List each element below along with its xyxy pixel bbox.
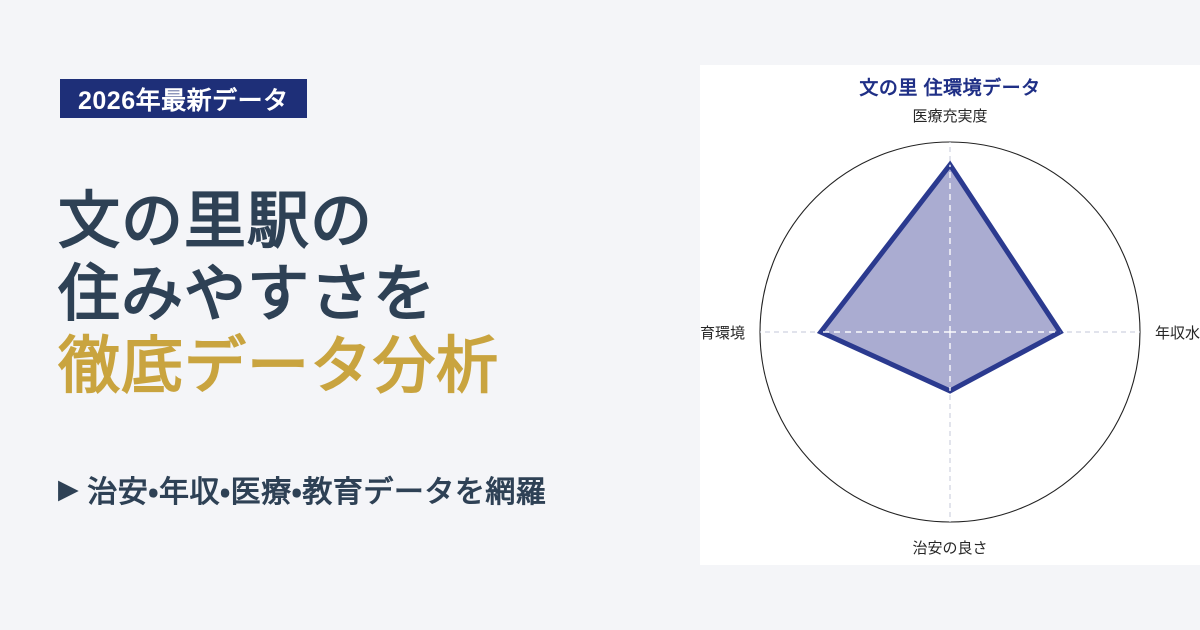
subtitle: ▶ 治安・年収・医療・教育データを網羅 <box>58 467 546 511</box>
badge-label: 2026年最新データ <box>78 81 289 117</box>
axis-label-right: 年収水準 <box>1155 325 1200 342</box>
headline-line-2: 住みやすさを <box>58 259 678 332</box>
subtitle-text: 治安・年収・医療・教育データを網羅 <box>87 467 546 511</box>
triangle-marker-icon: ▶ <box>58 476 79 503</box>
headline-line-3: 徹底データ分析 <box>58 331 678 404</box>
axis-label-bottom: 治安の良さ <box>912 540 987 557</box>
headline-line-1: 文の里駅の <box>58 186 678 259</box>
page-title: 文の里駅の 住みやすさを 徹底データ分析 <box>58 186 678 404</box>
axis-label-left: 教育環境 <box>700 325 745 342</box>
radar-chart-panel: 文の里 住環境データ 医療充実度 年収水準 治安の良さ 教育環境 <box>700 65 1200 565</box>
editorial-column: 2026年最新データ 文の里駅の 住みやすさを 徹底データ分析 ▶ 治安・年収・… <box>0 0 700 630</box>
status-badge: 2026年最新データ <box>60 79 307 118</box>
axis-label-top: 医療充実度 <box>912 108 987 125</box>
radar-chart: 医療充実度 年収水準 治安の良さ 教育環境 <box>700 65 1200 565</box>
radar-data-polygon <box>821 165 1060 391</box>
